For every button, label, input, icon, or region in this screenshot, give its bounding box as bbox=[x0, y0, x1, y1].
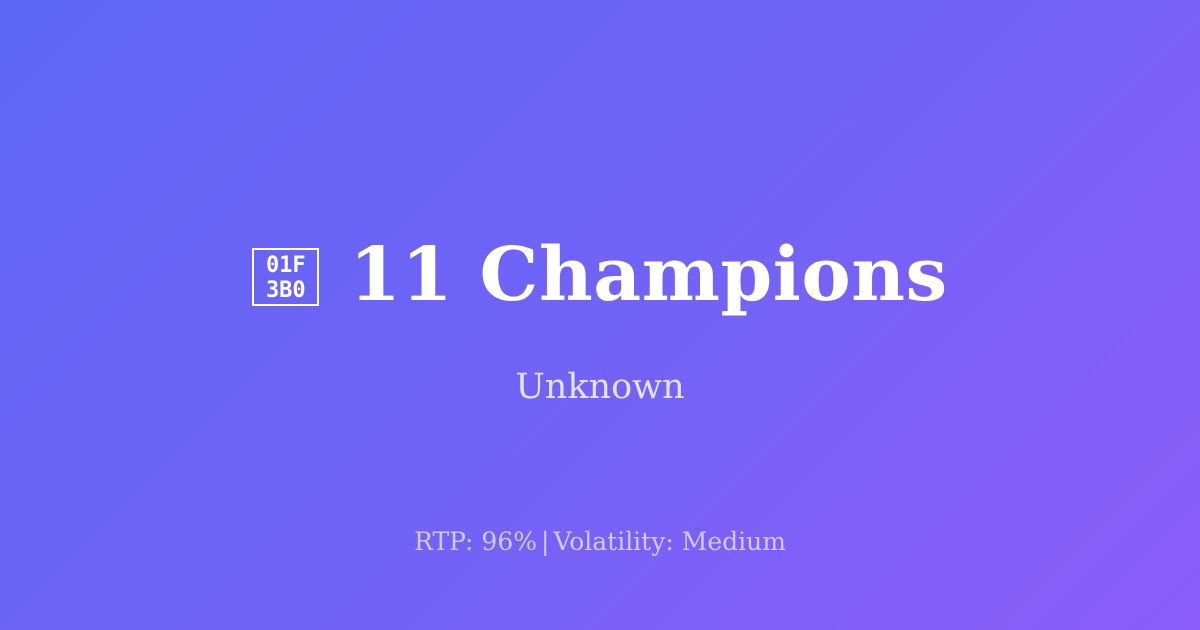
stats-separator: | bbox=[537, 527, 553, 556]
title-row: 01F 3B0 11 Champions bbox=[0, 232, 1200, 318]
game-title: 11 Champions bbox=[349, 235, 947, 315]
slot-machine-icon-codepoint-low: 3B0 bbox=[266, 278, 306, 303]
game-preview-card: 01F 3B0 11 Champions Unknown RTP: 96%|Vo… bbox=[0, 0, 1200, 630]
slot-machine-icon: 01F 3B0 bbox=[252, 248, 319, 306]
game-stats: RTP: 96%|Volatility: Medium bbox=[0, 526, 1200, 558]
slot-machine-icon-codepoint-high: 01F bbox=[266, 253, 306, 278]
volatility-value: Volatility: Medium bbox=[553, 527, 785, 556]
rtp-value: RTP: 96% bbox=[414, 527, 537, 556]
provider-label: Unknown bbox=[0, 366, 1200, 408]
